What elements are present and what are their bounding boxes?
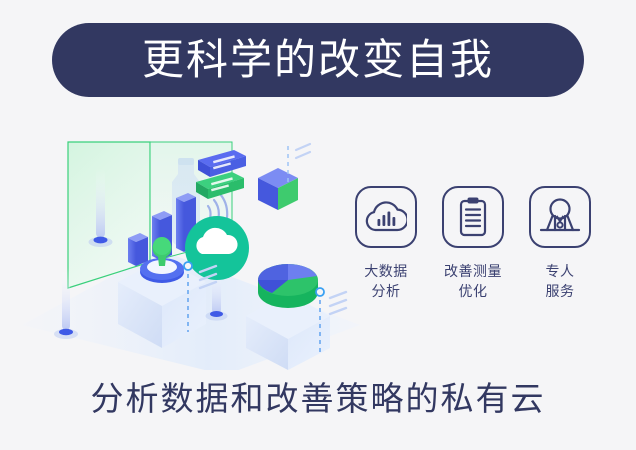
- feature-label-line2: 分析: [364, 282, 408, 302]
- person-service-icon-frame: [529, 186, 591, 248]
- hero-illustration: [10, 120, 360, 370]
- feature-label-line2: 服务: [546, 282, 575, 302]
- feature-list: 大数据 分析 改善测量 优化: [350, 186, 596, 326]
- feature-label-line1: 大数据: [364, 262, 408, 282]
- bar-small: [128, 233, 148, 266]
- tagline: 分析数据和改善策略的私有云: [0, 382, 636, 415]
- poster-stage: 更科学的改变自我: [0, 0, 636, 450]
- person-service-icon: [538, 197, 582, 237]
- feature-label-measurement-optimization: 改善测量 优化: [444, 262, 502, 303]
- clipboard-icon: [456, 196, 490, 238]
- feature-item-big-data-analysis[interactable]: 大数据 分析: [350, 186, 422, 303]
- feature-label-line2: 优化: [444, 282, 502, 302]
- clipboard-icon-frame: [442, 186, 504, 248]
- feature-item-dedicated-service[interactable]: 专人 服务: [524, 186, 596, 303]
- feature-item-measurement-optimization[interactable]: 改善测量 优化: [437, 186, 509, 303]
- header-banner: 更科学的改变自我: [52, 23, 584, 97]
- page-title: 更科学的改变自我: [142, 39, 494, 81]
- feature-label-dedicated-service: 专人 服务: [546, 262, 575, 303]
- cloud-chart-icon-frame: [355, 186, 417, 248]
- cloud-chart-icon: [365, 199, 407, 235]
- feature-label-big-data-analysis: 大数据 分析: [364, 262, 408, 303]
- feature-label-line1: 专人: [546, 262, 575, 282]
- cube-accent-small: [258, 168, 298, 210]
- pie-chart-3d: [258, 264, 318, 308]
- feature-label-line1: 改善测量: [444, 262, 502, 282]
